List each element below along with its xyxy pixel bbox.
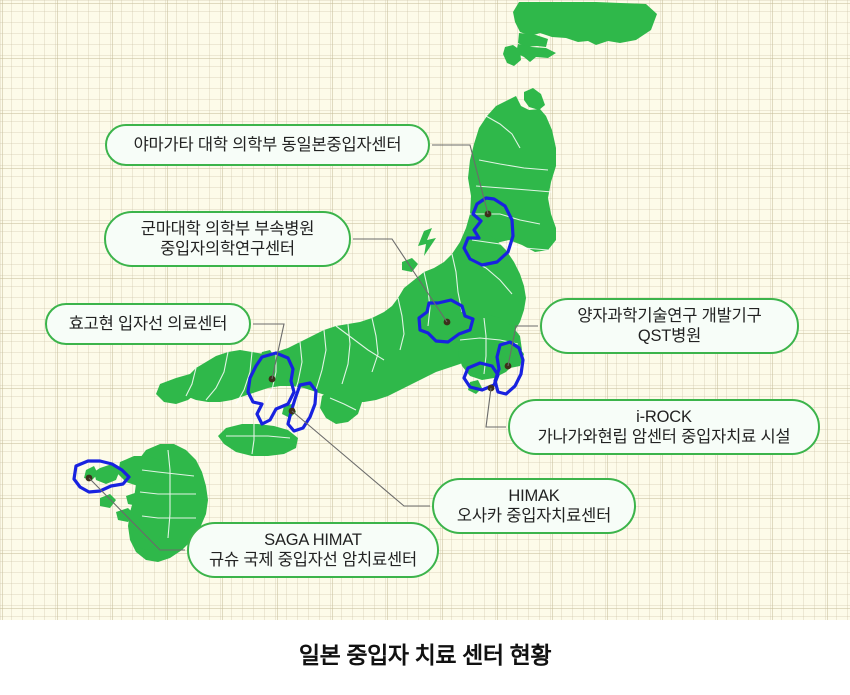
infographic-root: 야마가타 대학 의학부 동일본중입자센터 군마대학 의학부 부속병원 중입자의학… xyxy=(0,0,850,695)
region-goto-islands xyxy=(100,494,116,508)
region-shikoku xyxy=(218,424,298,456)
callout-qst[interactable]: 양자과학기술연구 개발기구 QST병원 xyxy=(540,298,799,354)
callout-saga[interactable]: SAGA HIMAT 규슈 국제 중입자선 암치료센터 xyxy=(187,522,439,578)
connector-himak xyxy=(292,411,430,506)
region-kii xyxy=(320,388,362,424)
callout-gunma-line-1: 군마대학 의학부 부속병원 xyxy=(141,219,315,239)
callout-gunma-line-2: 중입자의학연구센터 xyxy=(141,239,315,259)
callout-qst-line-1: 양자과학기술연구 개발기구 xyxy=(577,306,761,326)
region-aomori xyxy=(524,88,545,110)
region-noto-peninsula xyxy=(418,228,436,256)
region-hokkaido-oshima xyxy=(516,44,556,62)
callout-irock[interactable]: i-ROCK 가나가와현립 암센터 중입자치료 시설 xyxy=(508,399,820,455)
region-hokkaido-south xyxy=(518,33,548,47)
callout-gunma[interactable]: 군마대학 의학부 부속병원 중입자의학연구센터 xyxy=(104,211,351,267)
callout-himak-line-1: HIMAK xyxy=(457,486,611,506)
callout-yamagata-line-1: 야마가타 대학 의학부 동일본중입자센터 xyxy=(134,135,402,155)
callout-hyogo-line-1: 효고현 입자선 의료센터 xyxy=(69,314,228,334)
callout-saga-line-1: SAGA HIMAT xyxy=(209,530,417,550)
callout-yamagata[interactable]: 야마가타 대학 의학부 동일본중입자센터 xyxy=(105,124,430,166)
callout-irock-line-2: 가나가와현립 암센터 중입자치료 시설 xyxy=(538,427,791,447)
callout-irock-line-1: i-ROCK xyxy=(538,407,791,427)
callout-qst-line-2: QST병원 xyxy=(577,326,761,346)
callout-himak[interactable]: HIMAK 오사카 중입자치료센터 xyxy=(432,478,636,534)
page-title: 일본 중입자 치료 센터 현황 xyxy=(0,636,850,670)
callout-saga-line-2: 규슈 국제 중입자선 암치료센터 xyxy=(209,550,417,570)
callout-hyogo[interactable]: 효고현 입자선 의료센터 xyxy=(45,303,251,345)
callout-himak-line-2: 오사카 중입자치료센터 xyxy=(457,506,611,526)
region-sado xyxy=(402,258,418,272)
